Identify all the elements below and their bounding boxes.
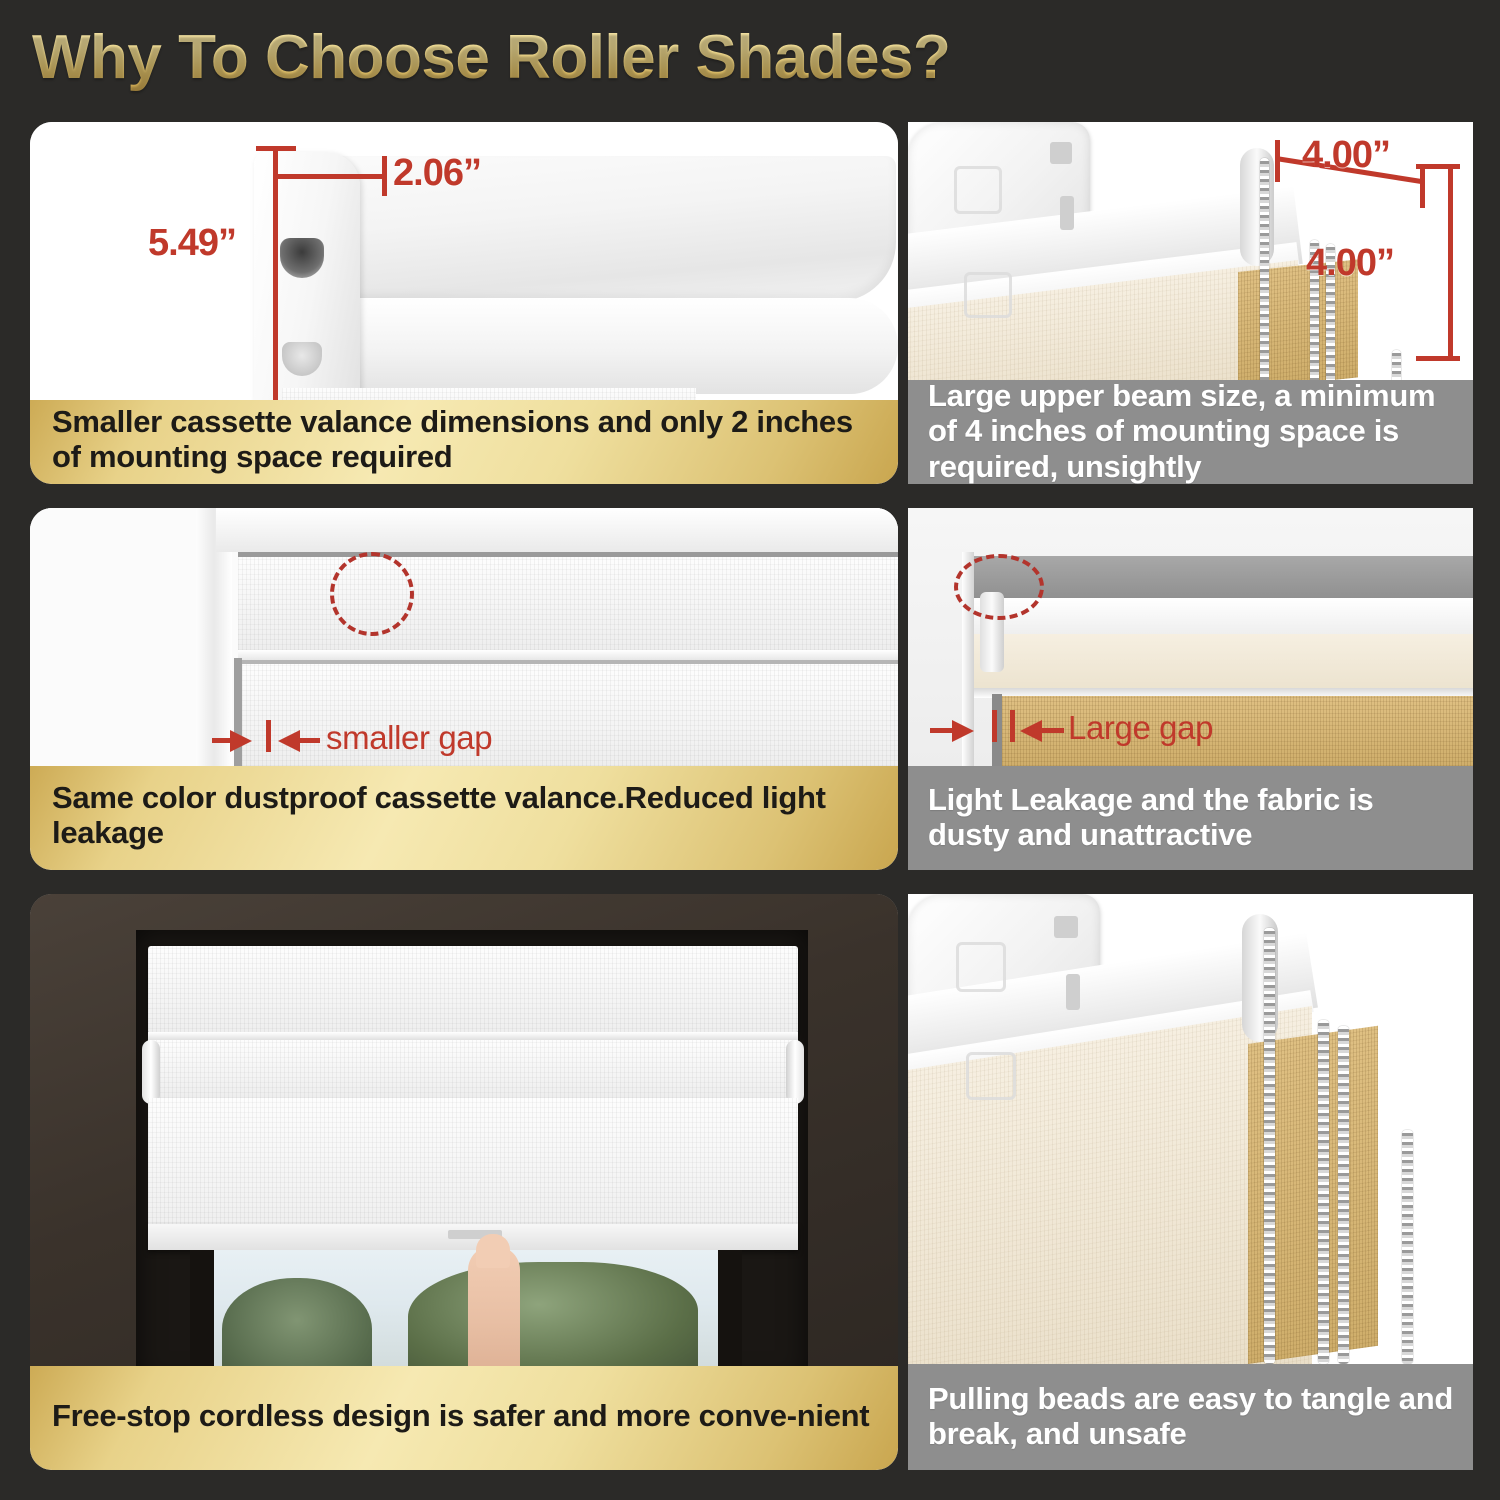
panel-pulling-beads: Pulling beads are easy to tangle and bre…	[908, 894, 1473, 1470]
fabric-top-edge	[238, 660, 898, 664]
dim-tick-beam-bottom	[1416, 356, 1460, 361]
caption-text: Same color dustproof cassette valance.Re…	[52, 781, 876, 850]
beam-front-panel	[970, 634, 1473, 690]
beam-roller	[970, 598, 1473, 638]
panel-photo-cassette-valance: 2.06” 5.49”	[30, 122, 898, 404]
gap-callout-label: smaller gap	[326, 719, 492, 757]
window-mullion-right	[718, 1250, 742, 1384]
caption-bar-cassette-valance-dimensions: Smaller cassette valance dimensions and …	[30, 400, 898, 484]
dimension-label-beam-height: 4.00”	[1306, 242, 1394, 285]
bracket-emboss-1	[954, 166, 1002, 214]
panel-light-leakage: Large gap Light Leakage and the fabric i…	[908, 508, 1473, 870]
window-frame-top	[216, 508, 898, 552]
infographic-root: Why To Choose Roller Shades? 2.06” 5.49”	[0, 0, 1500, 1500]
dimension-label-height: 5.49”	[148, 222, 236, 265]
cassette-valance	[148, 946, 798, 1034]
bead-chain-4[interactable]	[1402, 1130, 1413, 1364]
gap-arrow-left-tail	[930, 728, 956, 733]
highlight-circle	[954, 554, 1044, 620]
gap-callout-label: Large gap	[1068, 709, 1213, 747]
caption-text: Light Leakage and the fabric is dusty an…	[928, 782, 1453, 853]
roller-tube-fabric	[148, 1040, 798, 1098]
caption-bar-light-leakage: Light Leakage and the fabric is dusty an…	[908, 766, 1473, 870]
dim-line-beam-height	[1448, 164, 1453, 360]
highlight-circle	[330, 552, 414, 636]
panel-photo-cordless-design	[30, 894, 898, 1384]
shade-fabric	[148, 1098, 798, 1238]
dim-tick-width-right	[382, 156, 387, 196]
gap-arrow-left-tail	[212, 738, 234, 743]
caption-text: Smaller cassette valance dimensions and …	[52, 405, 876, 474]
dim-line-height	[273, 146, 278, 404]
dim-tick-height-top	[256, 146, 296, 151]
roller-endcap-left	[142, 1040, 160, 1104]
gap-marker-bar-1	[992, 710, 997, 742]
beam-top-gray	[970, 556, 1473, 600]
bracket-slot-1	[1054, 916, 1078, 938]
panel-photo-large-upper-beam: 4.00” 4.00”	[908, 122, 1473, 390]
bottom-clip	[282, 342, 322, 376]
gap-marker-bar	[266, 720, 271, 752]
caption-bar-dustproof-valance: Same color dustproof cassette valance.Re…	[30, 766, 898, 870]
caption-bar-cordless-design: Free-stop cordless design is safer and m…	[30, 1366, 898, 1470]
bracket-slot-1	[1050, 142, 1072, 164]
valance-end-cap	[254, 152, 360, 402]
panel-cordless-design: Free-stop cordless design is safer and m…	[30, 894, 898, 1470]
panel-cassette-valance-dimensions: 2.06” 5.49” Smaller cassette valance dim…	[30, 122, 898, 484]
dim-tick-beam-left	[1275, 140, 1280, 182]
dim-tick-beam-top	[1416, 164, 1460, 169]
caption-text: Large upper beam size, a minimum of 4 in…	[928, 378, 1453, 484]
valance-roller-tube	[280, 298, 898, 394]
caption-text: Pulling beads are easy to tangle and bre…	[928, 1381, 1453, 1452]
hand-fingers	[476, 1234, 510, 1268]
gap-arrow-right	[278, 730, 300, 752]
dimension-label-beam-width: 4.00”	[1302, 134, 1390, 177]
valance-top-edge	[238, 552, 898, 557]
bracket-emboss-1	[956, 942, 1006, 992]
mechanism-socket	[280, 238, 324, 278]
caption-bar-large-upper-beam: Large upper beam size, a minimum of 4 in…	[908, 380, 1473, 484]
bead-chain-2[interactable]	[1318, 1020, 1329, 1364]
page-title: Why To Choose Roller Shades?	[32, 22, 950, 93]
bead-chain-1[interactable]	[1260, 158, 1269, 390]
bead-chain-3[interactable]	[1338, 1026, 1349, 1364]
panel-photo-pulling-beads	[908, 894, 1473, 1364]
panel-photo-dustproof-valance: smaller gap	[30, 508, 898, 766]
caption-bar-pulling-beads: Pulling beads are easy to tangle and bre…	[908, 1364, 1473, 1470]
bead-chain-1[interactable]	[1264, 928, 1275, 1364]
gap-marker-bar-2	[1010, 710, 1015, 742]
window-mullion-left	[190, 1250, 214, 1384]
dim-tick-beam-right	[1420, 166, 1425, 208]
bracket-slot-2	[1066, 974, 1080, 1010]
dim-line-width	[275, 174, 387, 179]
panel-photo-light-leakage: Large gap	[908, 508, 1473, 766]
gap-arrow-right	[1020, 720, 1042, 742]
bracket-slot-2	[1060, 196, 1074, 230]
caption-text: Free-stop cordless design is safer and m…	[52, 1399, 869, 1434]
gap-arrow-right-tail	[1040, 728, 1064, 733]
bracket-emboss-2	[966, 1052, 1016, 1100]
window-view	[212, 1250, 720, 1384]
dimension-label-width: 2.06”	[393, 152, 481, 195]
gap-arrow-right-tail	[298, 738, 320, 743]
bracket-emboss-2	[964, 272, 1012, 318]
roller-endcap-right	[786, 1040, 804, 1104]
panel-large-upper-beam: 4.00” 4.00” Large upper beam size, a min…	[908, 122, 1473, 484]
panel-dustproof-cassette-valance: smaller gap Same color dustproof cassett…	[30, 508, 898, 870]
